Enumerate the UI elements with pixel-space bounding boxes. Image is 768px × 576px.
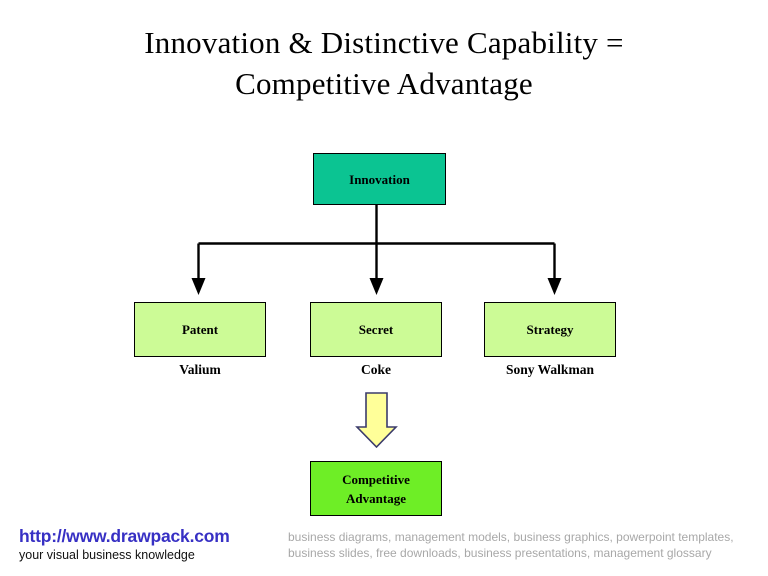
org-chart-diagram: Innovation Patent Secret Strategy Valium… bbox=[0, 0, 768, 522]
caption-secret-example: Coke bbox=[310, 362, 442, 378]
footer: http://www.drawpack.com your visual busi… bbox=[0, 519, 768, 576]
connector-lines bbox=[0, 0, 768, 522]
node-innovation[interactable]: Innovation bbox=[313, 153, 446, 205]
node-competitive-advantage-label: Competitive Advantage bbox=[342, 470, 410, 508]
node-competitive-advantage-line-2: Advantage bbox=[346, 491, 406, 506]
node-strategy-label: Strategy bbox=[527, 321, 574, 338]
brand-url-link[interactable]: http://www.drawpack.com bbox=[19, 526, 230, 547]
node-strategy[interactable]: Strategy bbox=[484, 302, 616, 357]
footer-keywords: business diagrams, management models, bu… bbox=[288, 529, 758, 561]
node-competitive-advantage[interactable]: Competitive Advantage bbox=[310, 461, 442, 516]
caption-patent-example: Valium bbox=[134, 362, 266, 378]
brand-tagline: your visual business knowledge bbox=[19, 548, 195, 562]
node-patent[interactable]: Patent bbox=[134, 302, 266, 357]
node-patent-label: Patent bbox=[182, 321, 218, 338]
node-competitive-advantage-line-1: Competitive bbox=[342, 472, 410, 487]
node-innovation-label: Innovation bbox=[349, 171, 410, 188]
node-secret-label: Secret bbox=[359, 321, 393, 338]
caption-strategy-example: Sony Walkman bbox=[484, 362, 616, 378]
node-secret[interactable]: Secret bbox=[310, 302, 442, 357]
down-block-arrow-icon bbox=[0, 0, 768, 522]
